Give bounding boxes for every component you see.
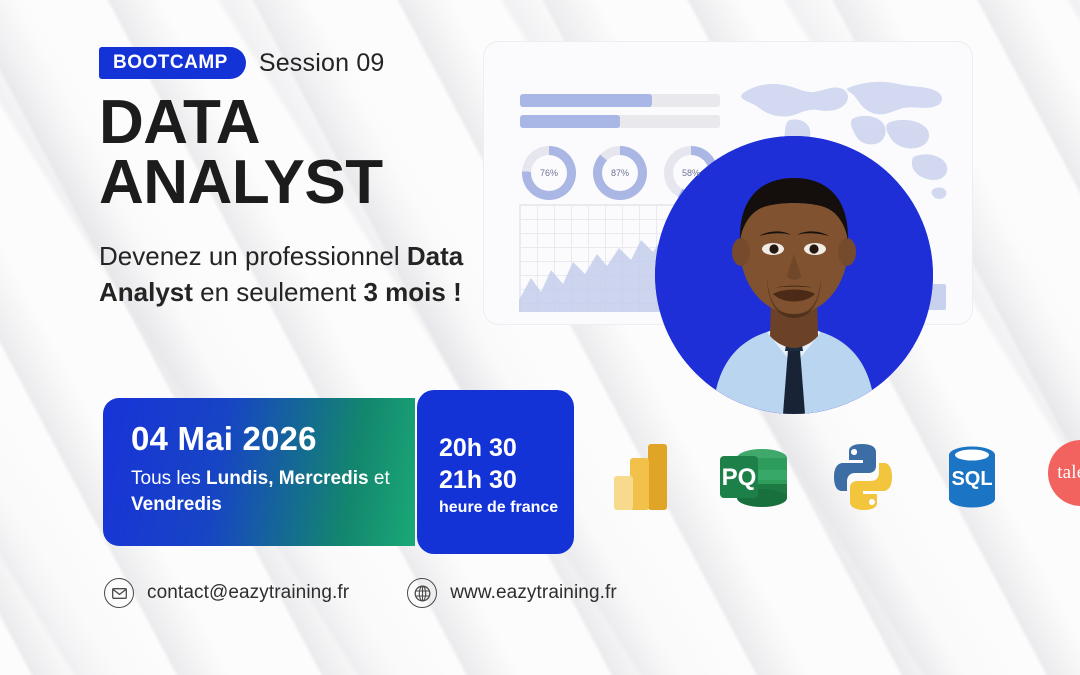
- page-title-line2: ANALYST: [99, 153, 474, 213]
- contact-website-item[interactable]: www.eazytraining.fr: [407, 578, 617, 608]
- promo-poster: 76% 87% 58%: [0, 0, 1080, 675]
- power-bi-logo: [608, 440, 676, 514]
- headline-block: BOOTCAMP Session 09 DATA ANALYST Devenez…: [99, 47, 474, 310]
- session-label: Session 09: [259, 49, 385, 78]
- power-query-label: PQ: [722, 464, 757, 491]
- timezone-note: heure de france: [439, 499, 574, 517]
- power-query-logo: PQ: [718, 440, 786, 514]
- time-end: 21h 30: [439, 464, 574, 496]
- donut-chart-2-value: 87%: [611, 168, 629, 178]
- progress-bar-fill-2: [520, 115, 620, 128]
- contact-bar: contact@eazytraining.fr www.eazytraining…: [104, 578, 617, 608]
- subtitle-part1: Devenez un professionnel: [99, 241, 407, 271]
- sql-label: SQL: [951, 468, 992, 490]
- time-card: 20h 30 21h 30 heure de france: [417, 390, 574, 554]
- schedule-join: et: [369, 468, 390, 489]
- schedule-days-2: Vendredis: [131, 494, 222, 515]
- schedule-days-1: Lundis, Mercredis: [206, 468, 369, 489]
- contact-email-item[interactable]: contact@eazytraining.fr: [104, 578, 349, 608]
- session-schedule: Tous les Lundis, Mercredis et Vendredis: [131, 466, 415, 517]
- contact-website-text: www.eazytraining.fr: [450, 582, 617, 604]
- donut-chart-1-value: 76%: [540, 168, 558, 178]
- sql-logo: SQL: [938, 440, 1006, 514]
- session-date: 04 Mai 2026: [131, 420, 415, 458]
- power-bi-icon: [608, 440, 676, 514]
- subtitle-bold2: 3 mois !: [363, 277, 461, 307]
- page-title-line1: DATA: [99, 88, 260, 157]
- contact-email-text: contact@eazytraining.fr: [147, 582, 349, 604]
- donut-chart-1: 76%: [522, 146, 576, 200]
- schedule-prefix: Tous les: [131, 468, 206, 489]
- badge-row: BOOTCAMP Session 09: [99, 47, 474, 79]
- sql-icon: SQL: [938, 440, 1006, 514]
- donut-chart-2: 87%: [593, 146, 647, 200]
- time-start: 20h 30: [439, 432, 574, 464]
- python-logo: [828, 440, 896, 514]
- subtitle-part2: en seulement: [193, 277, 364, 307]
- power-query-icon: PQ: [718, 440, 790, 514]
- python-icon: [828, 440, 898, 514]
- globe-icon: [407, 578, 437, 608]
- envelope-icon: [104, 578, 134, 608]
- talend-circle: talend: [1048, 440, 1080, 506]
- donut-chart-3-value: 58%: [682, 168, 700, 178]
- tech-logos-row: PQ SQL talend: [608, 440, 1080, 514]
- page-title: DATA ANALYST: [99, 93, 474, 213]
- talend-logo: talend: [1048, 440, 1080, 514]
- subtitle: Devenez un professionnel Data Analyst en…: [99, 239, 474, 310]
- talend-label: talend: [1057, 462, 1080, 484]
- date-banner: 04 Mai 2026 Tous les Lundis, Mercredis e…: [103, 398, 415, 546]
- bootcamp-badge: BOOTCAMP: [99, 47, 246, 79]
- progress-bar-fill-1: [520, 94, 652, 107]
